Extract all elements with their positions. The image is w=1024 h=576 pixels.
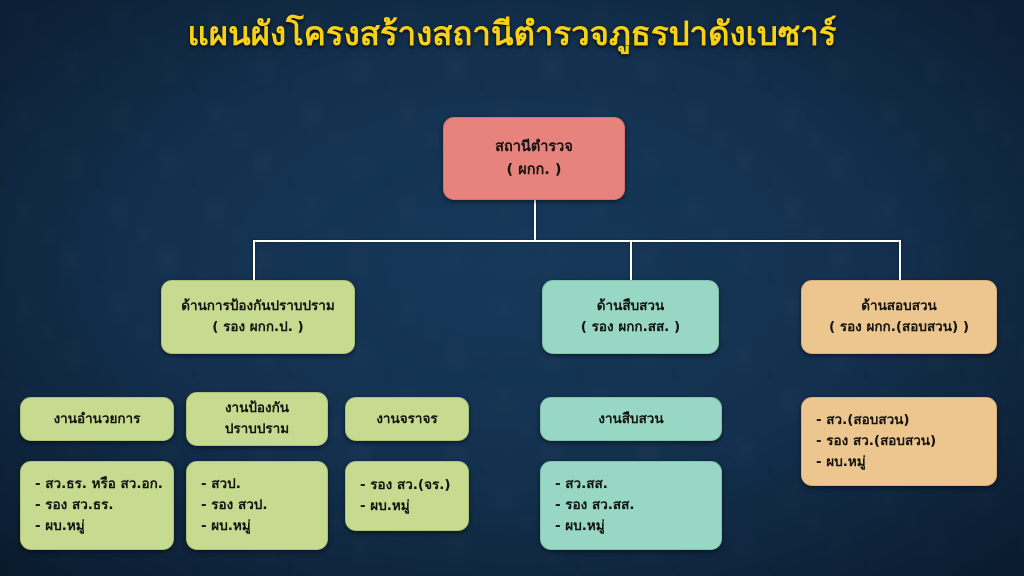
node-staff-traffic[interactable]: - รอง สว.(จร.) - ผบ.หมู่ [345, 461, 469, 531]
staff-item: - ผบ.หมู่ [360, 496, 410, 517]
node-division-intelligence-rank: ( รอง ผกก.สส. ) [581, 317, 680, 338]
node-division-prevention-title: ด้านการป้องกันปราบปราม [181, 296, 335, 317]
node-section-administration-label: งานอำนวยการ [54, 409, 141, 430]
staff-item: - รอง สว.ธร. [35, 495, 114, 516]
node-police-station-title: สถานีตำรวจ [495, 136, 573, 158]
node-division-prevention[interactable]: ด้านการป้องกันปราบปราม ( รอง ผกก.ป. ) [161, 280, 355, 354]
node-division-intelligence[interactable]: ด้านสืบสวน ( รอง ผกก.สส. ) [542, 280, 719, 354]
node-section-prevention-suppression-label-2: ปราบปราม [225, 419, 289, 440]
node-division-intelligence-title: ด้านสืบสวน [597, 296, 664, 317]
node-section-investigation[interactable]: งานสืบสวน [540, 397, 722, 441]
connector-horizontal-bus [253, 240, 901, 242]
connector-drop-intelligence [630, 240, 632, 280]
node-staff-prevention-suppression[interactable]: - สวป. - รอง สวป. - ผบ.หมู่ [186, 461, 328, 550]
staff-item: - รอง สว.(จร.) [360, 475, 451, 496]
node-police-station[interactable]: สถานีตำรวจ ( ผกก. ) [443, 117, 625, 200]
node-police-station-rank: ( ผกก. ) [507, 159, 562, 181]
staff-item: - รอง สวป. [201, 495, 267, 516]
staff-item: - สว.ธร. หรือ สว.อก. [35, 474, 163, 495]
staff-item: - ผบ.หมู่ [35, 516, 85, 537]
staff-item: - สว.(สอบสวน) [816, 410, 910, 431]
staff-item: - ผบ.หมู่ [555, 516, 605, 537]
node-section-administration[interactable]: งานอำนวยการ [20, 397, 174, 441]
node-division-interrogation[interactable]: ด้านสอบสวน ( รอง ผกก.(สอบสวน) ) [801, 280, 997, 354]
connector-drop-interrogation [899, 240, 901, 280]
staff-item: - รอง สว.สส. [555, 495, 635, 516]
node-section-investigation-label: งานสืบสวน [598, 409, 663, 430]
node-staff-investigation[interactable]: - สว.สส. - รอง สว.สส. - ผบ.หมู่ [540, 461, 722, 550]
node-section-traffic[interactable]: งานจราจร [345, 397, 469, 441]
page-title: แผนผังโครงสร้างสถานีตำรวจภูธรปาดังเบซาร์ [0, 14, 1024, 54]
node-staff-interrogation[interactable]: - สว.(สอบสวน) - รอง สว.(สอบสวน) - ผบ.หมู… [801, 397, 997, 486]
staff-item: - ผบ.หมู่ [816, 452, 866, 473]
node-division-interrogation-title: ด้านสอบสวน [861, 296, 937, 317]
staff-item: - สว.สส. [555, 474, 608, 495]
staff-item: - รอง สว.(สอบสวน) [816, 431, 936, 452]
node-staff-administration[interactable]: - สว.ธร. หรือ สว.อก. - รอง สว.ธร. - ผบ.ห… [20, 461, 174, 550]
node-division-interrogation-rank: ( รอง ผกก.(สอบสวน) ) [829, 317, 969, 338]
staff-item: - ผบ.หมู่ [201, 516, 251, 537]
connector-root-stem [534, 200, 536, 242]
node-division-prevention-rank: ( รอง ผกก.ป. ) [212, 317, 303, 338]
node-section-traffic-label: งานจราจร [376, 409, 437, 430]
node-section-prevention-suppression[interactable]: งานป้องกัน ปราบปราม [186, 392, 328, 446]
connector-drop-prevention [253, 240, 255, 280]
org-chart-slide: แผนผังโครงสร้างสถานีตำรวจภูธรปาดังเบซาร์… [0, 0, 1024, 576]
staff-item: - สวป. [201, 474, 241, 495]
node-section-prevention-suppression-label-1: งานป้องกัน [225, 398, 289, 419]
